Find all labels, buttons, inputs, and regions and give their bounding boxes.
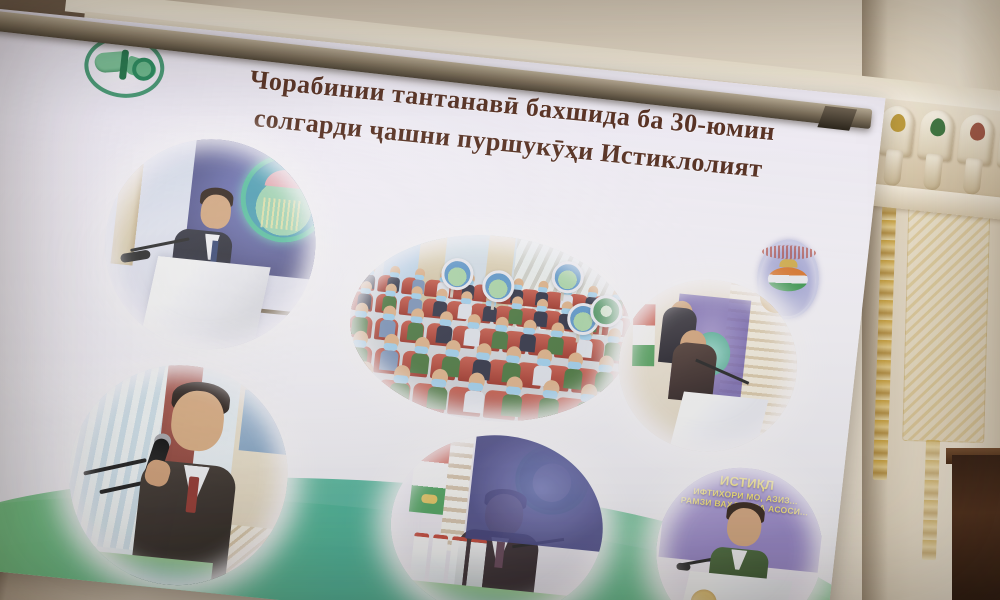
photo2-sign-handle (576, 326, 581, 342)
photo4-singer-head (168, 389, 226, 454)
audience-head (536, 298, 548, 311)
audience-body (463, 328, 480, 347)
audience-body (560, 294, 574, 309)
face-mask-icon (414, 274, 424, 280)
photo3-man-head (670, 300, 695, 326)
face-mask-icon (537, 358, 551, 367)
photo2-seat (516, 308, 539, 329)
audience-head (611, 306, 623, 319)
audience-head (542, 379, 560, 398)
photo2-seat (543, 364, 571, 392)
photo2-seat (451, 325, 476, 349)
photo4-handheld-microphone (143, 436, 171, 481)
photo2-audience-member (351, 302, 370, 336)
audience-head (435, 288, 447, 301)
photo2-audience-member (379, 305, 398, 339)
photo2-audience-member (558, 301, 575, 330)
photo5-water-bottles (409, 536, 486, 590)
photo2-emblem-sign (589, 294, 624, 329)
face-mask-icon (445, 349, 459, 358)
photo1-speaker-head (199, 193, 233, 230)
audience-body (510, 289, 524, 304)
photo2-seat (540, 310, 563, 331)
photo1-microphone-arm (130, 238, 190, 253)
photo2-audience-member (538, 379, 562, 421)
photo2-audience-member (533, 298, 550, 327)
audience-body (471, 359, 491, 381)
photo2-audience-member (486, 275, 501, 301)
photo2-drape-mid (480, 235, 515, 322)
audience-head (389, 265, 400, 277)
photo2-audience-member (510, 278, 525, 304)
photo2-seat (471, 284, 494, 303)
photo2-emblem-sign (440, 257, 475, 292)
audience-head (475, 342, 491, 359)
face-mask-icon (414, 346, 428, 355)
photo2-seat (493, 305, 516, 326)
photo2-audience-member (482, 293, 499, 322)
photo2-seat (424, 279, 447, 298)
water-bottle (466, 538, 487, 591)
face-mask-icon (435, 295, 446, 302)
face-mask-icon (607, 336, 620, 344)
audience-body (426, 386, 448, 410)
face-mask-icon (486, 300, 497, 307)
photo2-audience-member (410, 336, 432, 374)
audience-body (558, 313, 573, 329)
photo3-screen-emblem (689, 330, 733, 378)
audience-head (464, 273, 475, 285)
audience-head (495, 316, 509, 331)
photo2-seat (425, 322, 450, 346)
photo2-seat-row (348, 315, 631, 365)
photo2-seat (514, 361, 542, 389)
photo2-audience-member (426, 368, 450, 410)
photo2-audience-member (463, 372, 487, 414)
photo2-seat (422, 298, 445, 319)
photo2-seat (398, 296, 421, 317)
face-mask-icon (523, 327, 536, 335)
photo3-woman-body (668, 342, 718, 404)
face-mask-icon (352, 339, 366, 348)
photo2-audience-member (389, 364, 413, 406)
photo1-speaker-hair (200, 186, 235, 208)
face-mask-icon (580, 393, 596, 402)
audience-body (407, 322, 424, 341)
photo2-seat (377, 274, 400, 293)
audience-head (438, 311, 452, 326)
photo1-speaker-tie (210, 240, 219, 265)
audience-body (410, 353, 430, 375)
face-mask-icon (598, 364, 612, 373)
photo2-emblem-sign (481, 269, 516, 304)
audience-head (385, 283, 397, 296)
photo5-tajik-flag (409, 434, 451, 515)
audience-body (519, 334, 536, 353)
photo-student-podium: ИСТИҚЛ ИФТИХОРИ МО, АЗИЗ... РАМЗИ ВАҲДАТ… (648, 460, 832, 600)
audience-head (488, 275, 499, 287)
face-mask-icon (505, 386, 521, 395)
photo3-wall-panel (713, 282, 806, 460)
audience-head (598, 355, 614, 372)
photo2-seat (373, 347, 401, 375)
photo2-seat (447, 386, 483, 417)
face-mask-icon (538, 287, 548, 293)
hall-doorway (952, 455, 1000, 600)
photo2-audience-member (379, 333, 401, 371)
photo-seated-official (381, 425, 612, 600)
photo2-seat (469, 303, 492, 324)
photo1-backdrop-screen (182, 129, 326, 283)
photo2-audience-member (411, 268, 426, 294)
audience-body (500, 394, 522, 418)
photo5-green-table (381, 577, 595, 600)
face-mask-icon (383, 313, 396, 321)
audience-head (444, 339, 460, 356)
photo2-seat (429, 353, 457, 381)
audience-body (547, 336, 564, 355)
photo2-seat (554, 335, 579, 359)
audience-head (485, 293, 497, 306)
face-mask-icon (461, 298, 472, 305)
audience-head (410, 286, 422, 299)
face-mask-icon (506, 355, 520, 364)
audience-body (386, 277, 400, 292)
photo2-seat (566, 293, 589, 312)
photo6-screen-text-line3: РАМЗИ ВАҲДАТ ВА АСОСИ... (668, 493, 821, 519)
photo1-speaker-suit (169, 228, 234, 301)
face-mask-icon (586, 311, 597, 318)
photo2-audience-member (435, 310, 454, 344)
photo2-seat (589, 296, 612, 315)
face-mask-icon (355, 310, 368, 318)
audience-body (563, 368, 583, 390)
audience-body (583, 316, 598, 332)
photo2-audience-member (563, 352, 585, 390)
audience-body (382, 296, 397, 312)
photo4-wall-ornament (220, 524, 277, 577)
audience-head (511, 296, 523, 309)
audience-head (567, 352, 583, 369)
face-mask-icon (410, 293, 421, 300)
photo4-singer-shirt (180, 465, 210, 501)
face-mask-icon (467, 322, 480, 330)
audience-head (523, 319, 537, 334)
photo2-emblem-sign (550, 260, 585, 295)
photo3-backdrop-screen (669, 294, 751, 400)
photo4-singer-tie (185, 476, 199, 513)
photo2-audience-member (500, 375, 524, 417)
audience-body (491, 331, 508, 350)
photo1-national-emblem (236, 151, 326, 247)
audience-body (362, 274, 376, 289)
photo2-audience-member (440, 339, 462, 377)
face-mask-icon (489, 282, 499, 288)
photo2-seat (587, 315, 610, 336)
audience-head (413, 336, 429, 353)
face-mask-icon (439, 277, 449, 283)
audience-head (430, 368, 448, 387)
audience-head (352, 330, 368, 347)
photo3-flag (632, 304, 655, 366)
audience-body (482, 306, 497, 322)
face-mask-icon (536, 305, 547, 312)
photo2-audience-member (461, 273, 476, 299)
photo-scene: Чорабинии тантанавӣ бахшида ба 30-юмин с… (0, 0, 1000, 600)
audience-body (585, 297, 599, 312)
face-mask-icon (383, 343, 397, 352)
photo2-seat (477, 327, 502, 351)
photo2-seat (571, 367, 599, 395)
photo-young-man-microphone (58, 355, 299, 595)
face-mask-icon (511, 303, 522, 310)
photo2-seat (580, 338, 605, 362)
audience-body (535, 292, 549, 307)
photo2-seat (458, 356, 486, 384)
photo6-podium (679, 571, 793, 600)
audience-head (466, 313, 480, 328)
photo6-microphone-head (676, 562, 691, 570)
face-mask-icon (612, 294, 622, 300)
photo1-microphone-head (120, 249, 151, 263)
audience-head (538, 280, 549, 292)
audience-body (533, 365, 553, 387)
photo2-seat (503, 330, 528, 354)
face-mask-icon (561, 308, 572, 315)
face-mask-icon (495, 325, 508, 333)
photo4-red-drape (156, 364, 203, 481)
audience-head (586, 303, 598, 316)
photo2-seat-row (351, 291, 634, 338)
photo2-emblem-sign (566, 301, 601, 336)
audience-body (538, 397, 560, 421)
photo2-audience-member (519, 319, 538, 353)
photo6-screen-text-line1: ИСТИҚЛ (670, 467, 824, 498)
photo6-podium-seal (689, 588, 718, 600)
photo4-stand-microphone-1 (83, 458, 147, 475)
audience-body (594, 371, 614, 393)
audience-head (410, 308, 424, 323)
audience-body (461, 284, 475, 299)
audience-body (502, 362, 522, 384)
photo2-audience-member (382, 283, 399, 312)
photo2-audience-member (560, 283, 575, 309)
photo4-singer-hand (143, 457, 173, 489)
face-mask-icon (464, 279, 474, 285)
face-mask-icon (439, 319, 452, 327)
photo2-audience-member (508, 296, 525, 325)
photo4-blue-panel (238, 389, 293, 455)
cornice-leaf-motif (929, 118, 946, 138)
audience-head (393, 364, 411, 383)
photo2-sign-handle (560, 285, 565, 301)
photo2-seat (486, 358, 514, 386)
photo2-audience-member (471, 342, 493, 380)
photo2-seat (519, 289, 542, 308)
audience-head (383, 333, 399, 350)
photo2-audience-member (362, 263, 377, 289)
photo2-seat (528, 333, 553, 357)
audience-head (382, 305, 396, 320)
photo-masked-presenter (610, 271, 806, 460)
photo5-official-tie (494, 541, 505, 568)
face-mask-icon (611, 313, 622, 320)
water-bottle (428, 534, 449, 587)
audience-head (607, 328, 621, 343)
photo3-woman-facemask (680, 347, 703, 361)
photo3-microphone-arm (695, 359, 749, 385)
photo3-podium (669, 391, 769, 457)
photo2-seat (401, 350, 429, 378)
face-mask-icon (385, 290, 396, 297)
audience-body (379, 350, 399, 372)
photo2-window (380, 229, 440, 308)
audience-head (551, 322, 565, 337)
face-mask-icon (568, 361, 582, 370)
audience-head (506, 346, 522, 363)
photo2-audience-member (432, 288, 449, 317)
face-mask-icon (411, 316, 424, 324)
photo1-speaker-shirt (202, 233, 220, 260)
photo2-seat (400, 277, 423, 296)
photo2-seat-row (353, 272, 636, 317)
photo4-stand-microphone-2 (99, 477, 163, 494)
face-mask-icon (513, 284, 523, 290)
face-mask-icon (393, 375, 409, 384)
audience-head (360, 281, 372, 294)
audience-head (354, 302, 368, 317)
photo6-student-hair (726, 500, 766, 524)
photo2-seat (495, 286, 518, 305)
photo2-seat (399, 320, 424, 344)
photo4-singer-suit (129, 458, 238, 594)
audience-body (575, 339, 592, 358)
photo6-microphone-arm (679, 554, 737, 567)
photo2-seat (448, 281, 471, 300)
photo2-audience-member (463, 313, 482, 347)
photo2-seat (445, 300, 468, 321)
photo4-microphone-head (153, 433, 172, 451)
water-bottle (409, 532, 430, 585)
photo2-audience-member (491, 316, 510, 350)
face-mask-icon (431, 378, 447, 387)
photo6-student-collar (729, 549, 747, 570)
photo2-audience-member (502, 345, 524, 383)
water-bottle (447, 536, 468, 589)
photo6-student-head (725, 507, 763, 548)
emblem-rays (261, 198, 304, 232)
audience-head (563, 283, 574, 295)
audience-head (460, 291, 472, 304)
photo2-audience-member (575, 325, 594, 359)
face-mask-icon (389, 272, 399, 278)
photo2-seat (411, 382, 447, 413)
audience-head (579, 325, 593, 340)
photo2-audience-member (585, 285, 600, 311)
photo2-seat (563, 312, 586, 333)
photo4-curtain (61, 355, 182, 553)
audience-body (389, 382, 411, 406)
photo2-audience-member (357, 280, 374, 309)
photo5-flag-crown (421, 493, 438, 504)
photo2-sign-handle (599, 319, 604, 335)
audience-body (411, 279, 425, 294)
photo4-singer-hair (170, 380, 231, 418)
photo2-seat (374, 293, 397, 314)
audience-head (513, 278, 524, 290)
photo2-seat (351, 291, 374, 312)
photo1-podium (140, 256, 272, 354)
photo2-drape-left (413, 228, 448, 315)
audience-body (351, 317, 368, 336)
audience-body (508, 308, 523, 324)
photo5-backdrop-screen (466, 426, 613, 552)
audience-body (352, 379, 374, 403)
audience-body (357, 293, 372, 309)
photo2-audience-member (610, 288, 625, 314)
photo2-audience-member (583, 303, 600, 332)
audience-head (612, 288, 623, 300)
photo2-audience-member (407, 285, 424, 314)
photo2-audience-member (547, 322, 566, 356)
audience-body (436, 282, 450, 297)
photo2-seat (374, 317, 399, 341)
photo2-sign-handle (450, 282, 455, 298)
photo2-seat (482, 390, 518, 421)
photo2-audience-member (533, 348, 555, 386)
photo3-man-body (658, 306, 698, 365)
roller-end-cap (817, 106, 857, 131)
audience-body (610, 299, 624, 314)
photo6-student-uniform (705, 546, 769, 600)
face-mask-icon (588, 292, 598, 298)
audience-body (533, 311, 548, 327)
audience-body (486, 287, 500, 302)
photo2-seat (542, 291, 565, 310)
photo2-audience-member (436, 270, 451, 296)
audience-head (505, 376, 523, 395)
photo2-sign-handle (491, 294, 496, 310)
audience-head (439, 270, 450, 282)
face-mask-icon (360, 288, 371, 295)
audience-body (457, 303, 472, 319)
face-mask-icon (365, 269, 375, 275)
photo2-audience-member (575, 383, 599, 425)
audience-body (463, 390, 485, 414)
audience-head (536, 349, 552, 366)
audience-body (575, 401, 597, 425)
photo2-seat (348, 315, 373, 339)
audience-head (468, 372, 486, 391)
face-mask-icon (551, 330, 564, 338)
audience-head (414, 268, 425, 280)
photo2-audience-member (407, 308, 426, 342)
audience-body (407, 298, 422, 314)
emblem-crown (259, 163, 313, 190)
photo2-audience-member (457, 291, 474, 320)
audience-body (379, 319, 396, 338)
seal-crown (779, 259, 797, 268)
face-mask-icon (475, 352, 489, 361)
audience-body (435, 325, 452, 344)
photo-speaker-podium (94, 129, 326, 359)
face-mask-icon (579, 333, 592, 341)
photo3-woman-head (678, 328, 707, 358)
audience-head (561, 301, 573, 314)
photo2-audience-member (386, 265, 401, 291)
face-mask-icon (468, 382, 484, 391)
audience-body (432, 301, 447, 317)
